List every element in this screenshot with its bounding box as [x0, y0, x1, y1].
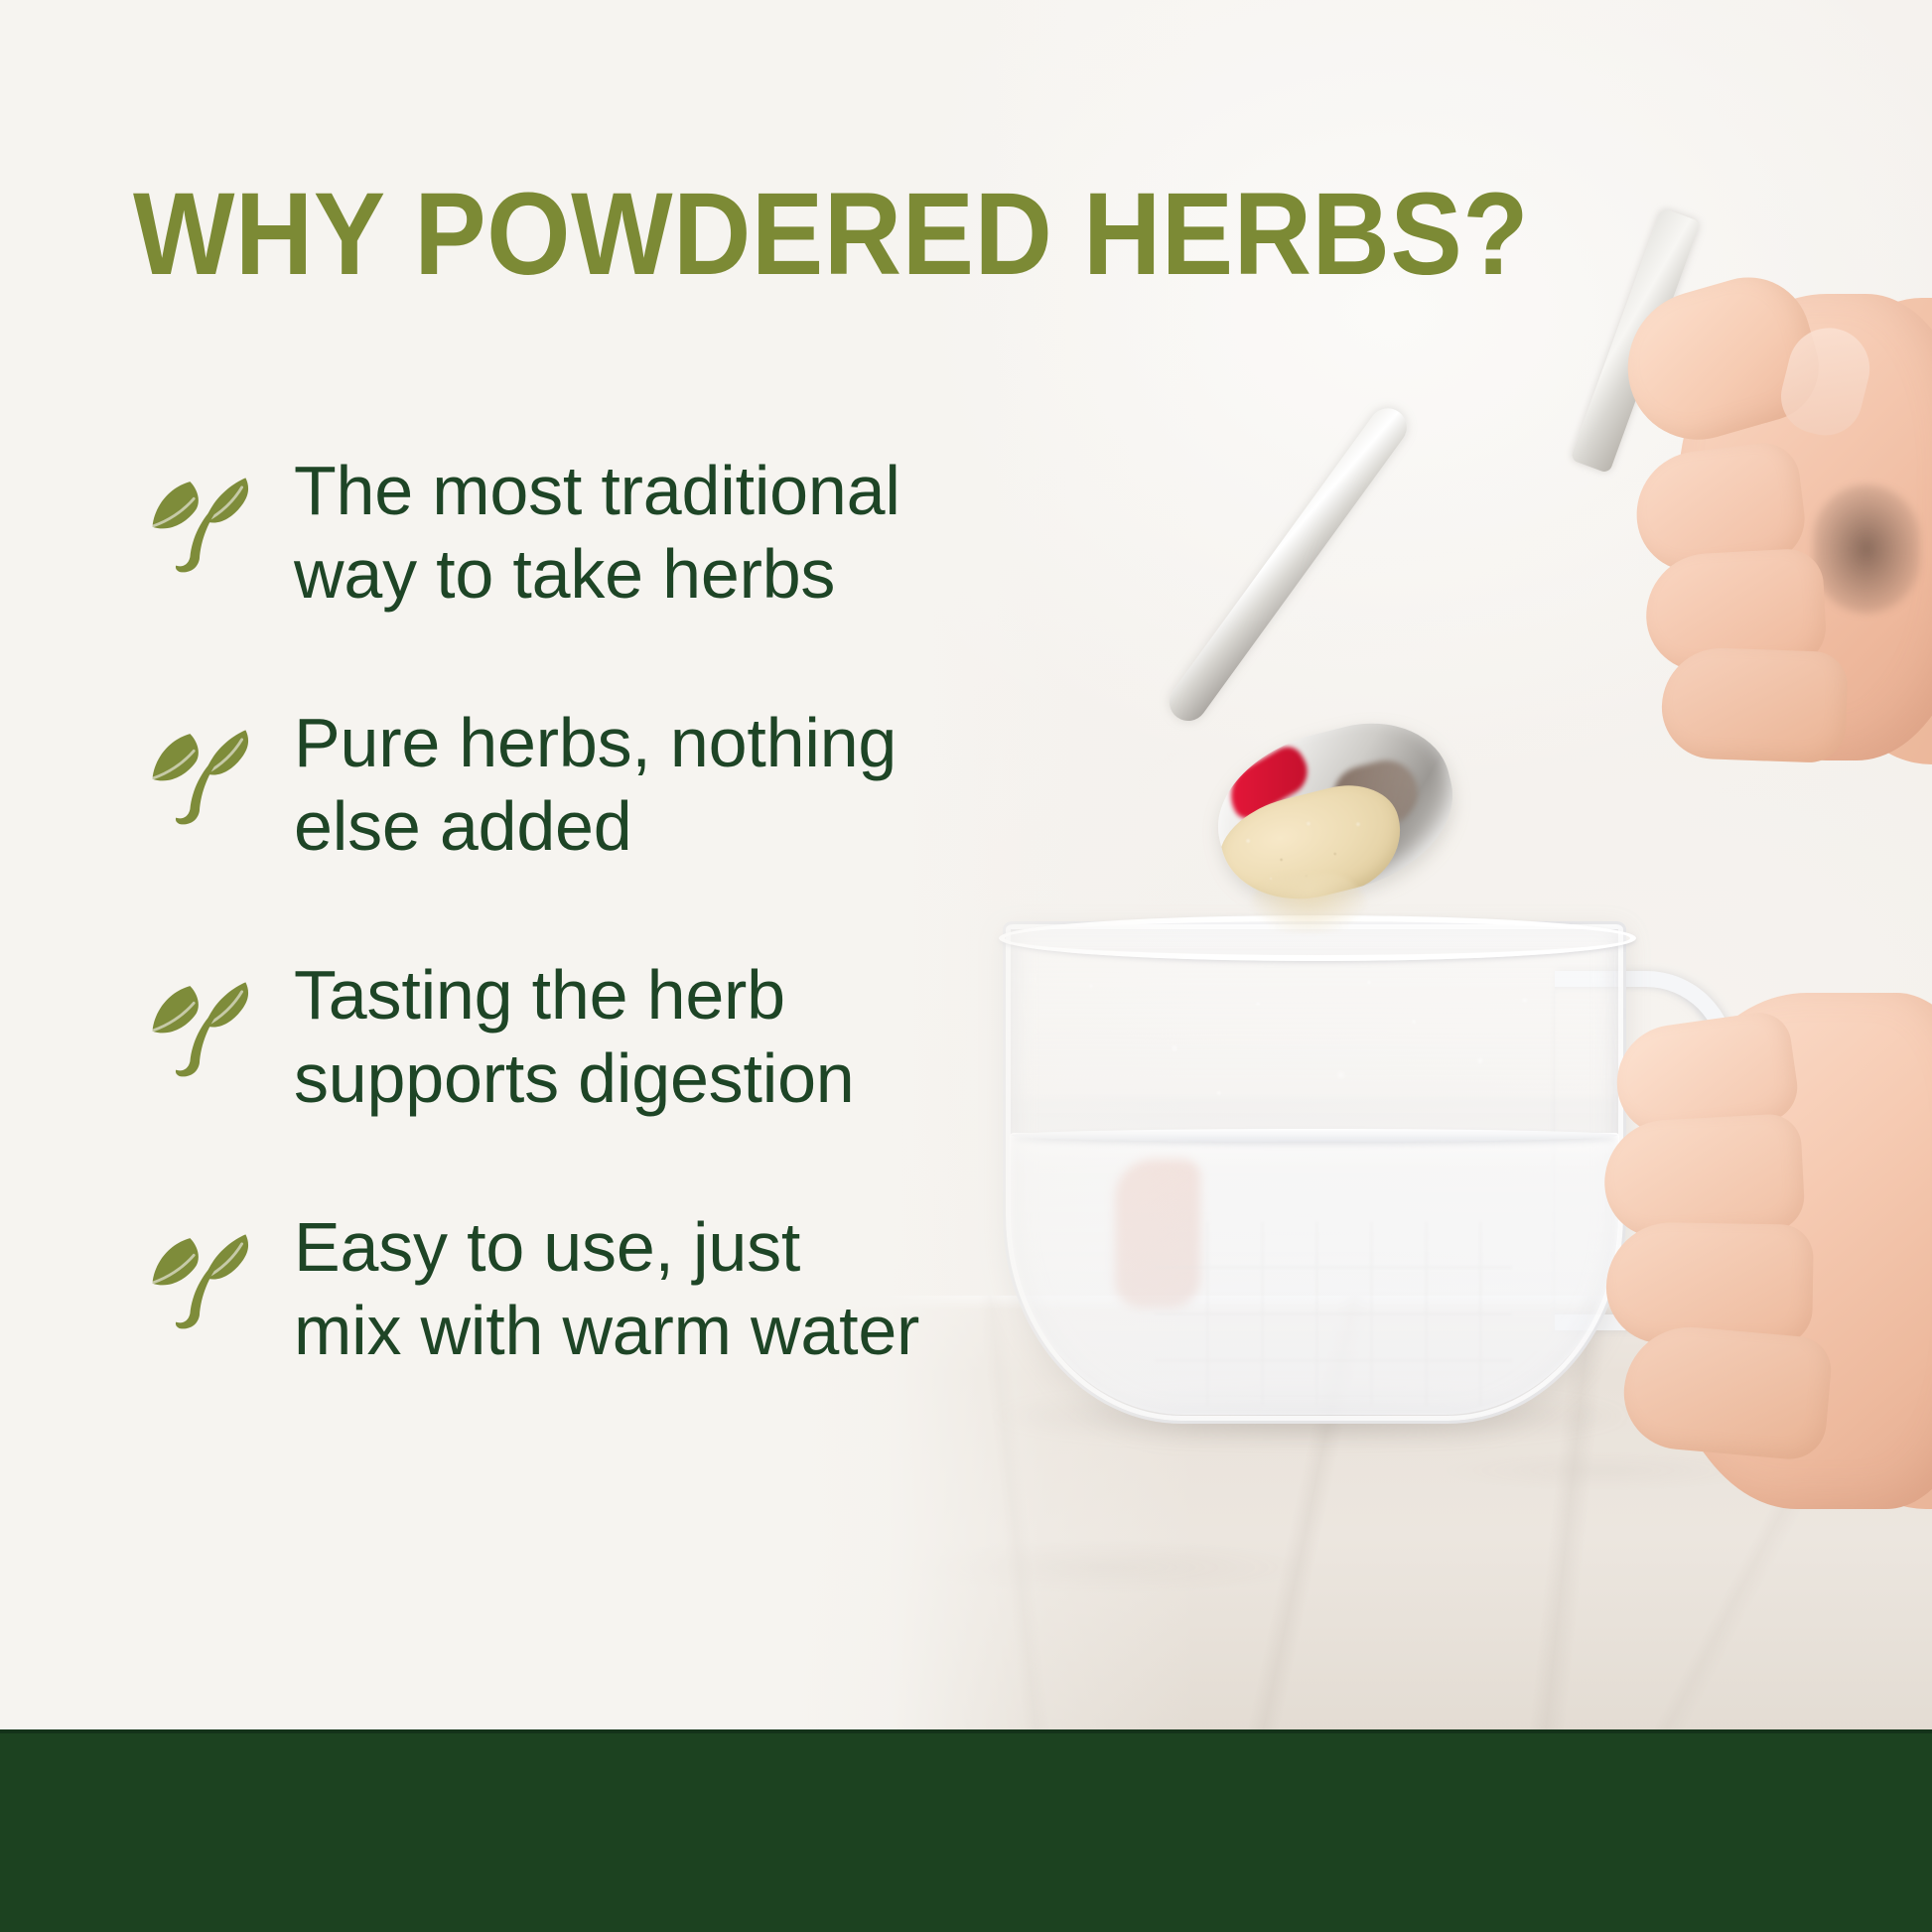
- mug-handle-highlight-upper: [586, 117, 705, 157]
- upper-hand-shadow-gap: [1813, 484, 1920, 614]
- hand-holding-mug: [1598, 993, 1932, 1529]
- list-item: Tasting the herb supports digestion: [139, 953, 923, 1120]
- sprout-leaf-icon: [139, 467, 256, 578]
- hand-holding-spoon: [1600, 254, 1932, 810]
- glass-mug: [1003, 921, 1620, 1418]
- lower-hand-finger-3: [1605, 1221, 1814, 1346]
- list-item-label: Pure herbs, nothing else added: [294, 701, 923, 868]
- page-title: WHY POWDERED HERBS?: [133, 175, 1430, 294]
- lower-hand-finger-4: [1619, 1321, 1834, 1461]
- lower-hand-finger-2: [1601, 1113, 1806, 1240]
- mug-waterline: [1012, 1129, 1617, 1142]
- infographic-canvas: WHY POWDERED HERBS? The most traditional…: [0, 0, 1932, 1932]
- list-item-label: The most traditional way to take herbs: [294, 449, 923, 616]
- mug-condensation: [1035, 950, 1591, 1129]
- list-item: Easy to use, just mix with warm water: [139, 1205, 923, 1372]
- list-item: The most traditional way to take herbs: [139, 449, 923, 616]
- mug-body: [1003, 921, 1626, 1424]
- footer-bar: [0, 1729, 1932, 1932]
- mug-water: [1010, 1133, 1619, 1415]
- list-item: Pure herbs, nothing else added: [139, 701, 923, 868]
- sprout-leaf-icon: [139, 719, 256, 830]
- sprout-leaf-icon: [139, 1223, 256, 1334]
- list-item-label: Tasting the herb supports digestion: [294, 953, 923, 1120]
- falling-powder: [1249, 874, 1368, 933]
- benefits-list: The most traditional way to take herbs P…: [139, 449, 923, 1372]
- list-item-label: Easy to use, just mix with warm water: [294, 1205, 923, 1372]
- upper-hand-finger-3: [1660, 646, 1849, 763]
- sprout-leaf-icon: [139, 971, 256, 1082]
- footer-bar-top-edge: [0, 1729, 1932, 1733]
